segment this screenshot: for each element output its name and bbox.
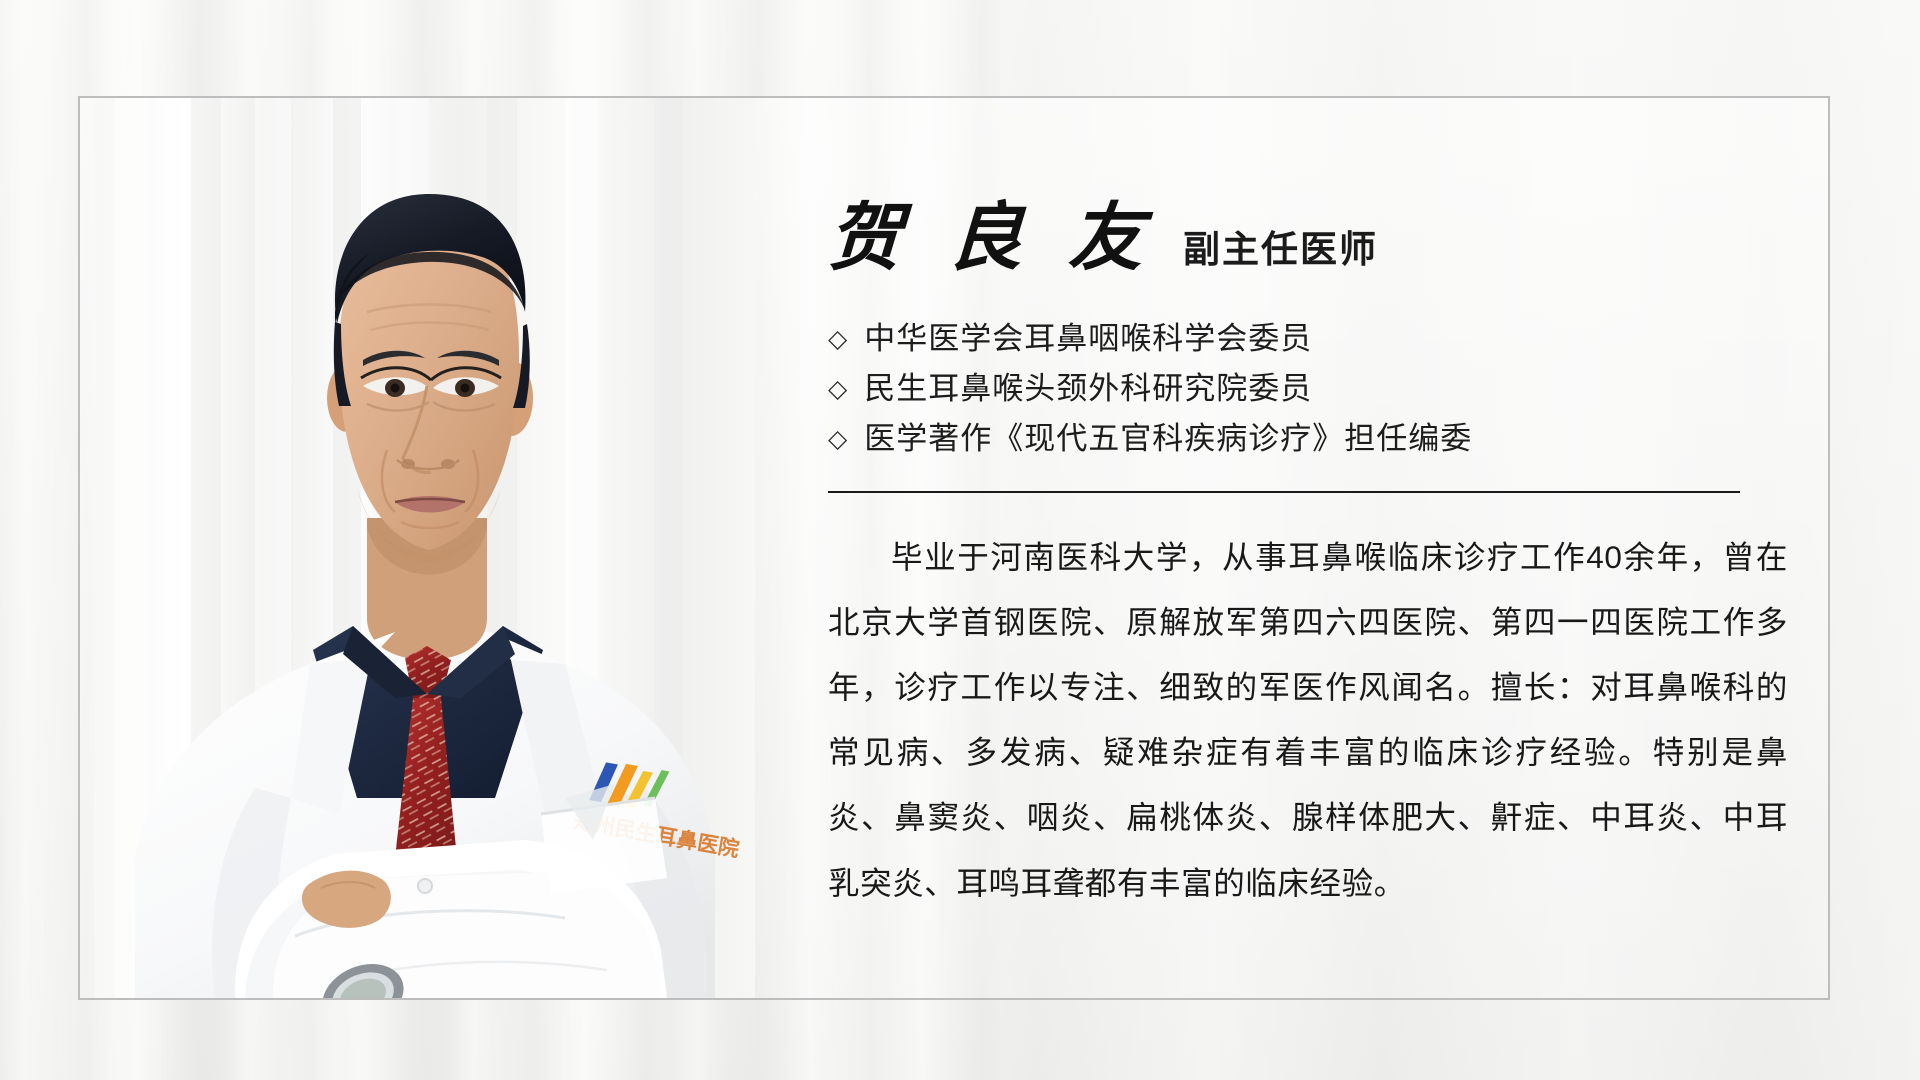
doctor-title: 副主任医师 [1183, 231, 1378, 276]
portrait-illustration: 郑州民生耳鼻医院 [95, 98, 755, 998]
list-item: ◇ 中华医学会耳鼻咽喉科学会委员 [828, 314, 1828, 364]
diamond-bullet-icon: ◇ [828, 327, 848, 352]
list-item: ◇ 医学著作《现代五官科疾病诊疗》担任编委 [828, 414, 1828, 464]
doctor-portrait: 郑州民生耳鼻医院 [95, 98, 755, 998]
credential-text: 民生耳鼻喉头颈外科研究院委员 [864, 364, 1312, 414]
credentials-list: ◇ 中华医学会耳鼻咽喉科学会委员 ◇ 民生耳鼻喉头颈外科研究院委员 ◇ 医学著作… [828, 314, 1828, 465]
poster-canvas: 郑州民生耳鼻医院 贺 良 友 副主任医师 ◇ 中华医学会耳鼻咽喉科学会委员 [0, 0, 1920, 1080]
doctor-name: 贺 良 友 [826, 202, 1159, 276]
list-item: ◇ 民生耳鼻喉头颈外科研究院委员 [828, 364, 1828, 414]
credential-text: 医学著作《现代五官科疾病诊疗》担任编委 [864, 414, 1472, 464]
diamond-bullet-icon: ◇ [828, 427, 848, 452]
credential-text: 中华医学会耳鼻咽喉科学会委员 [864, 314, 1312, 364]
doctor-info: 贺 良 友 副主任医师 ◇ 中华医学会耳鼻咽喉科学会委员 ◇ 民生耳鼻喉头颈外科… [828, 180, 1828, 916]
diamond-bullet-icon: ◇ [828, 377, 848, 402]
doctor-biography: 毕业于河南医科大学，从事耳鼻喉临床诊疗工作40余年，曾在北京大学首钢医院、原解放… [828, 525, 1788, 916]
section-divider [828, 491, 1740, 493]
name-row: 贺 良 友 副主任医师 [828, 180, 1828, 276]
